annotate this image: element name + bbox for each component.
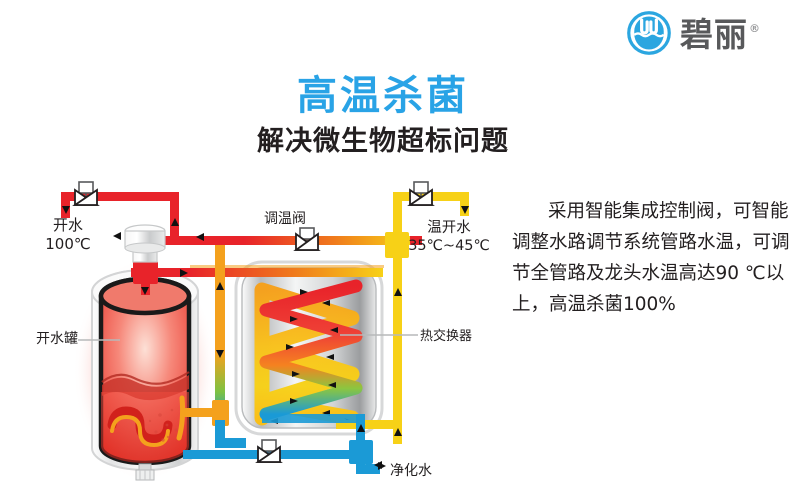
integrated-control-fitting (125, 225, 165, 262)
purified-water-valve[interactable] (258, 440, 280, 462)
label-boiling-outlet-temp: 100℃ (36, 235, 100, 254)
label-boiling-outlet-name: 开水 (36, 216, 100, 235)
label-purified-water: 净化水 (390, 463, 432, 481)
warm-water-valve[interactable] (410, 182, 432, 205)
label-warm-outlet-temp: 35℃~45℃ (404, 237, 494, 255)
poster-canvas: 碧丽® 高温杀菌 解决微生物超标问题 采用智能集成控制阀，可智能调整水路调节系统… (0, 0, 800, 500)
label-boiling-outlet: 开水 100℃ (36, 216, 100, 254)
label-heat-exchanger: 热交换器 (420, 329, 472, 345)
label-warm-outlet-name: 温开水 (404, 219, 494, 237)
mixing-valve[interactable] (296, 228, 318, 250)
water-system-schematic (0, 0, 800, 500)
label-warm-outlet: 温开水 35℃~45℃ (404, 219, 494, 255)
label-boiling-water-tank: 开水罐 (36, 331, 78, 349)
hot-water-valve[interactable] (75, 182, 97, 205)
label-mixing-valve: 调温阀 (264, 211, 306, 229)
